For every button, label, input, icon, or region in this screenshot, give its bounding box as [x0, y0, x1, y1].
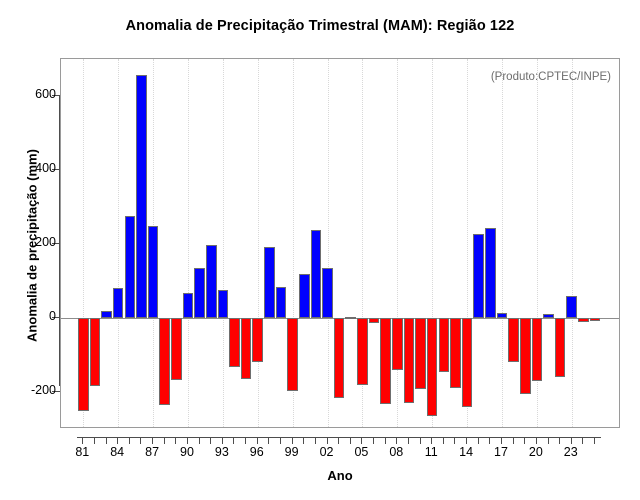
x-tick-mark: [222, 437, 223, 444]
y-tick-label: 400: [0, 161, 56, 175]
source-annotation: (Produto:CPTEC/INPE): [491, 71, 611, 83]
x-tick-mark: [373, 437, 374, 444]
x-tick-mark: [94, 437, 95, 444]
x-tick-mark: [303, 437, 304, 444]
bar-1983: [101, 311, 112, 318]
x-tick-mark: [431, 437, 432, 444]
x-tick-mark: [559, 437, 560, 444]
y-tick-label: 200: [0, 235, 56, 249]
bar-2018: [508, 318, 519, 362]
bar-2017: [497, 313, 508, 318]
bar-2008: [392, 318, 403, 370]
bar-1995: [241, 318, 252, 379]
chart-page: Anomalia de Precipitação Trimestral (MAM…: [0, 0, 640, 500]
x-tick-mark: [594, 437, 595, 444]
x-tick-mark: [82, 437, 83, 444]
bar-2015: [473, 234, 484, 318]
x-tick-mark: [350, 437, 351, 444]
bar-2010: [415, 318, 426, 389]
y-tick-label: -200: [0, 383, 56, 397]
y-tick-label: 0: [0, 309, 56, 323]
x-tick-mark: [106, 437, 107, 444]
x-tick-mark: [420, 437, 421, 444]
bar-2006: [369, 318, 380, 323]
x-tick-mark: [489, 437, 490, 444]
bar-1999: [287, 318, 298, 391]
bar-1991: [194, 268, 205, 318]
x-tick-mark: [513, 437, 514, 444]
x-tick-mark: [408, 437, 409, 444]
bar-1982: [90, 318, 101, 386]
bar-1998: [276, 287, 287, 318]
gridline: [118, 59, 119, 427]
plot-area: (Produto:CPTEC/INPE): [60, 58, 620, 428]
bar-2001: [311, 230, 322, 318]
bar-2002: [322, 268, 333, 318]
bar-1989: [171, 318, 182, 380]
x-tick-mark: [582, 437, 583, 444]
bar-2014: [462, 318, 473, 407]
x-tick-mark: [361, 437, 362, 444]
bar-2023: [566, 296, 577, 318]
gridline: [572, 59, 573, 427]
gridline: [502, 59, 503, 427]
x-axis-label: Ano: [60, 468, 620, 483]
x-tick-mark: [338, 437, 339, 444]
bar-1986: [136, 75, 147, 318]
x-tick-mark: [257, 437, 258, 444]
bar-1981: [78, 318, 89, 411]
bar-1992: [206, 245, 217, 318]
gridline: [328, 59, 329, 427]
x-tick-mark: [548, 437, 549, 444]
bar-2025: [590, 318, 601, 321]
x-tick-mark: [245, 437, 246, 444]
x-tick-mark: [210, 437, 211, 444]
bar-2007: [380, 318, 391, 404]
bar-2012: [439, 318, 450, 372]
bar-1996: [252, 318, 263, 362]
x-tick-mark: [571, 437, 572, 444]
bar-2019: [520, 318, 531, 394]
bar-1993: [218, 290, 229, 318]
x-tick-mark: [292, 437, 293, 444]
x-tick-mark: [233, 437, 234, 444]
bar-1987: [148, 226, 159, 318]
gridline: [223, 59, 224, 427]
x-tick-mark: [315, 437, 316, 444]
x-tick-mark: [280, 437, 281, 444]
bar-1984: [113, 288, 124, 318]
x-tick-mark: [187, 437, 188, 444]
x-tick-mark: [164, 437, 165, 444]
bar-2020: [532, 318, 543, 381]
x-tick-mark: [478, 437, 479, 444]
x-tick-mark: [129, 437, 130, 444]
bar-1994: [229, 318, 240, 367]
x-tick-mark: [536, 437, 537, 444]
x-tick-label: 23: [551, 445, 591, 459]
x-tick-mark: [199, 437, 200, 444]
gridline: [258, 59, 259, 427]
bar-2003: [334, 318, 345, 398]
gridline: [188, 59, 189, 427]
bar-2022: [555, 318, 566, 377]
x-tick-mark: [385, 437, 386, 444]
gridline: [397, 59, 398, 427]
bar-1990: [183, 293, 194, 318]
x-tick-mark: [454, 437, 455, 444]
bar-2011: [427, 318, 438, 416]
x-tick-mark: [175, 437, 176, 444]
bar-2021: [543, 314, 554, 318]
page-title: Anomalia de Precipitação Trimestral (MAM…: [0, 18, 640, 34]
x-tick-mark: [443, 437, 444, 444]
bar-2024: [578, 318, 589, 322]
x-tick-mark: [524, 437, 525, 444]
x-tick-mark: [466, 437, 467, 444]
x-tick-mark: [396, 437, 397, 444]
x-tick-mark: [152, 437, 153, 444]
bar-2009: [404, 318, 415, 403]
x-tick-mark: [140, 437, 141, 444]
bar-2005: [357, 318, 368, 385]
bar-1985: [125, 216, 136, 318]
y-tick-label: 600: [0, 87, 56, 101]
x-tick-mark: [501, 437, 502, 444]
bar-1997: [264, 247, 275, 318]
x-tick-mark: [117, 437, 118, 444]
x-tick-mark: [327, 437, 328, 444]
x-tick-mark: [268, 437, 269, 444]
bar-2013: [450, 318, 461, 388]
bar-2000: [299, 274, 310, 318]
bar-1988: [159, 318, 170, 405]
bar-2016: [485, 228, 496, 318]
bar-2004: [345, 317, 356, 319]
